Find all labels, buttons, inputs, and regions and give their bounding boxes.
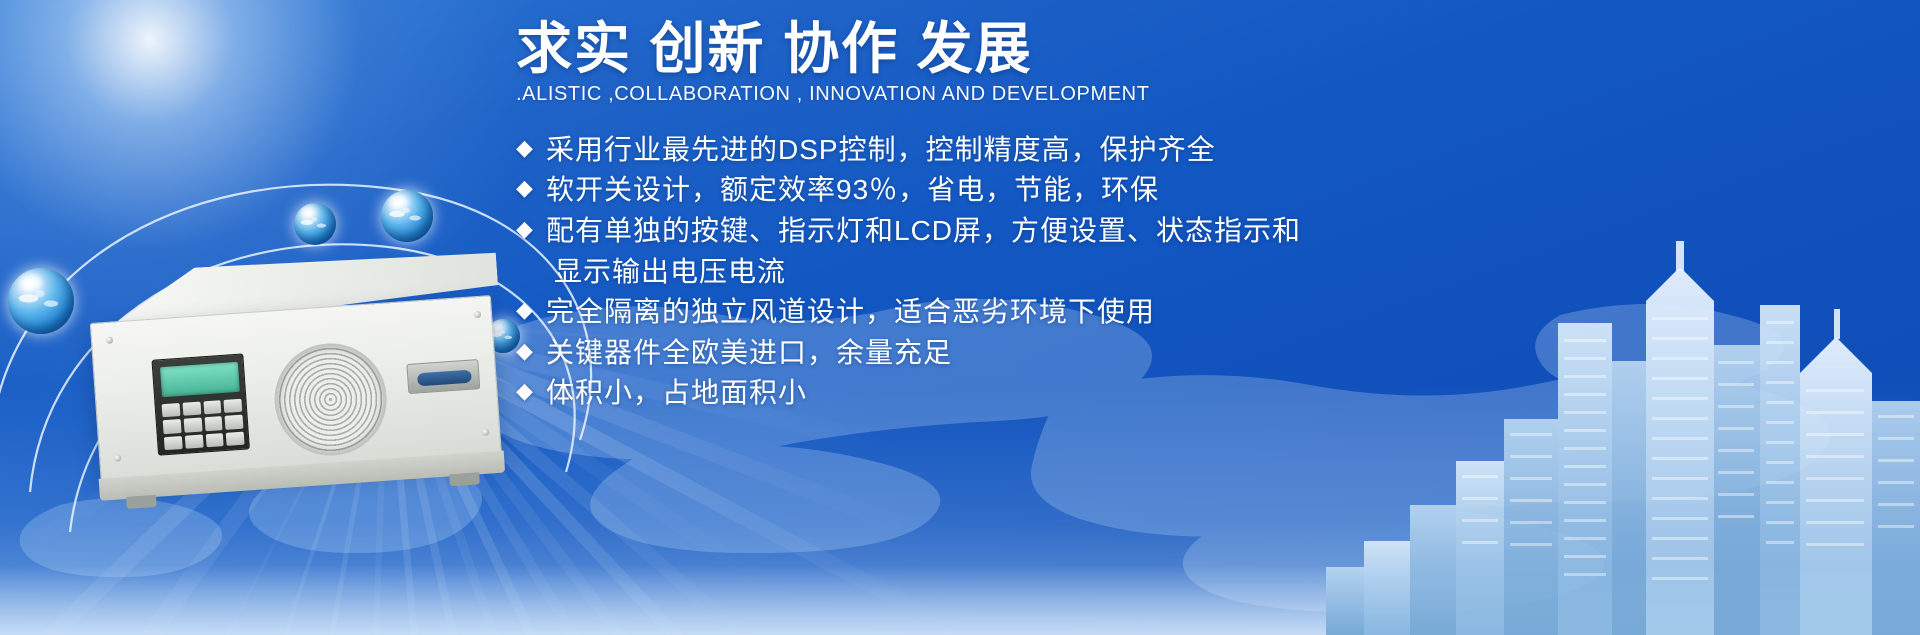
- db9-connector: [406, 359, 480, 394]
- banner-text-block: 求实 创新 协作 发展 .ALISTIC ,COLLABORATION , IN…: [516, 20, 1776, 414]
- lcd-screen: [160, 362, 240, 397]
- feature-bullet-text: 完全隔离的独立风道设计，适合恶劣环境下使用: [546, 292, 1155, 333]
- feature-bullet-text: 采用行业最先进的DSP控制，控制精度高，保护齐全: [546, 130, 1216, 171]
- feature-bullet-text: 体积小，占地面积小: [546, 373, 807, 414]
- globe-icon: [381, 190, 433, 242]
- feature-bullet-item: 显示输出电压电流: [516, 252, 1776, 293]
- banner-title: 求实 创新 协作 发展: [516, 20, 1776, 79]
- globe-icon: [294, 203, 336, 245]
- feature-bullet-list: ◆采用行业最先进的DSP控制，控制精度高，保护齐全◆软开关设计，额定效率93％，…: [516, 130, 1776, 414]
- diamond-bullet-icon: ◆: [516, 333, 542, 369]
- feature-bullet-text: 显示输出电压电流: [554, 252, 786, 293]
- feature-bullet-item: ◆配有单独的按键、指示灯和LCD屏，方便设置、状态指示和: [516, 211, 1776, 252]
- feature-bullet-item: ◆体积小，占地面积小: [516, 373, 1776, 414]
- keypad: [162, 399, 245, 450]
- diamond-bullet-icon: ◆: [516, 292, 542, 328]
- feature-bullet-item: ◆采用行业最先进的DSP控制，控制精度高，保护齐全: [516, 130, 1776, 171]
- feature-bullet-text: 配有单独的按键、指示灯和LCD屏，方便设置、状态指示和: [546, 211, 1301, 252]
- lcd-display-panel: [151, 353, 249, 455]
- promo-banner: 求实 创新 协作 发展 .ALISTIC ,COLLABORATION , IN…: [0, 0, 1920, 635]
- feature-bullet-item: ◆完全隔离的独立风道设计，适合恶劣环境下使用: [516, 292, 1776, 333]
- banner-subtitle: .ALISTIC ,COLLABORATION , INNOVATION AND…: [516, 83, 1776, 106]
- diamond-bullet-icon: ◆: [516, 170, 542, 206]
- feature-bullet-item: ◆关键器件全欧美进口，余量充足: [516, 333, 1776, 374]
- diamond-bullet-icon: ◆: [516, 211, 542, 247]
- feature-bullet-item: ◆软开关设计，额定效率93％，省电，节能，环保: [516, 170, 1776, 211]
- bottom-glow: [0, 565, 1920, 635]
- diamond-bullet-icon: ◆: [516, 130, 542, 166]
- product-image-rack-power-supply: [46, 247, 513, 538]
- fan-grill: [271, 340, 391, 460]
- feature-bullet-text: 软开关设计，额定效率93％，省电，节能，环保: [546, 170, 1159, 211]
- diamond-bullet-icon: ◆: [516, 373, 542, 409]
- feature-bullet-text: 关键器件全欧美进口，余量充足: [546, 333, 952, 374]
